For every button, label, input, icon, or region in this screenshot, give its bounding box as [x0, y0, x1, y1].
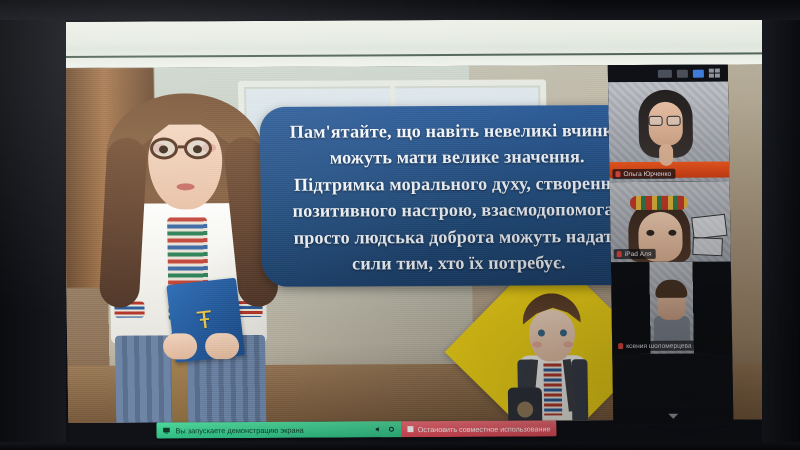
teacher-illustration: Ŧ	[89, 85, 284, 421]
minimize-button[interactable]	[658, 69, 672, 77]
participant-name-badge: iPad Аля	[614, 249, 656, 259]
participant-tile[interactable]	[612, 353, 733, 408]
monitor-screen: Ŧ Пам'ятайте, що нав	[62, 18, 769, 447]
flower-crown	[630, 196, 688, 210]
stop-icon	[408, 426, 414, 432]
participant-tile[interactable]: ксения шоломерцева	[611, 261, 732, 354]
sharing-status-text: Вы запускаете демонстрацию экрана	[175, 425, 303, 435]
participants-panel: Ольга Юрченко iPad Аля	[608, 65, 734, 426]
participant-tile[interactable]: iPad Аля	[610, 181, 731, 262]
trident-emblem-icon: Ŧ	[191, 306, 218, 336]
participant-name-badge: ксения шоломерцева	[615, 341, 696, 351]
chevron-down-icon[interactable]	[668, 413, 678, 418]
speaker-view-button[interactable]	[693, 69, 704, 77]
desktop-background-strip	[62, 18, 763, 68]
slide-text: Пам'ятайте, що навіть невеликі вчинки мо…	[282, 117, 635, 277]
stop-share-label: Остановить совместное использование	[418, 424, 551, 434]
schoolboy-illustration	[498, 293, 604, 423]
gear-icon[interactable]	[388, 425, 396, 433]
monitor-bezel-top	[0, 0, 800, 20]
mic-muted-icon	[615, 171, 620, 177]
speaker-icon[interactable]	[375, 425, 383, 433]
gallery-view-button[interactable]	[709, 69, 720, 78]
sharing-status-bar: Вы запускаете демонстрацию экрана	[156, 421, 402, 438]
participant-tile[interactable]: Ольга Юрченко	[608, 82, 730, 183]
monitor-bezel-right	[762, 0, 800, 450]
mic-muted-icon	[617, 251, 622, 257]
participant-name: ксения шоломерцева	[626, 342, 692, 349]
stop-share-button[interactable]: Остановить совместное использование	[402, 420, 557, 437]
participant-name-badge: Ольга Юрченко	[612, 169, 675, 179]
view-controls[interactable]	[608, 65, 728, 83]
participant-name: Ольга Юрченко	[623, 170, 671, 177]
slide-text-box: Пам'ятайте, що навіть невеликі вчинки мо…	[259, 105, 652, 287]
monitor-bezel-left	[0, 0, 66, 450]
monitor-bezel-bottom	[0, 442, 800, 450]
panel-collapse-control[interactable]	[613, 407, 733, 424]
window-view-button[interactable]	[677, 69, 688, 77]
mic-muted-icon	[618, 343, 623, 349]
participant-name: iPad Аля	[625, 250, 652, 257]
share-screen-icon	[162, 426, 170, 434]
screen-share-toolbar[interactable]: Вы запускаете демонстрацию экрана Остано…	[156, 420, 556, 438]
photographed-monitor: Ŧ Пам'ятайте, що нав	[0, 0, 800, 450]
backpack-icon	[508, 387, 543, 422]
